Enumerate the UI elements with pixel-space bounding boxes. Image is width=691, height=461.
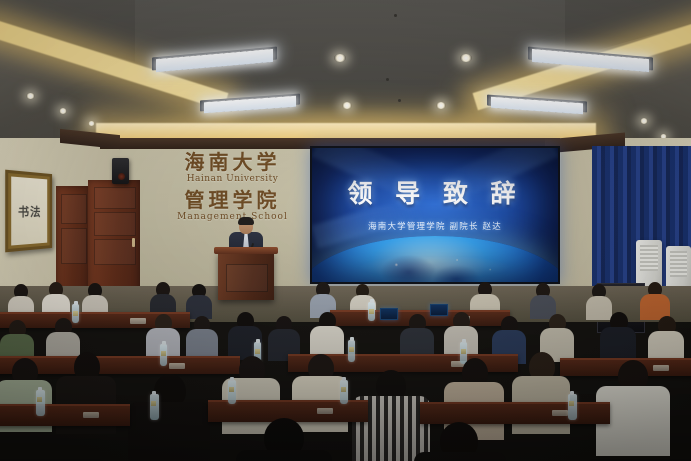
torso: [128, 402, 210, 461]
desk-nameplate: [83, 412, 99, 418]
ceiling-fixture-dot-2: [386, 78, 389, 81]
downlight-6: [59, 108, 67, 114]
downlight-7: [88, 121, 95, 126]
audience-member: [128, 374, 210, 461]
calligraphy-canvas: 书法: [11, 176, 47, 245]
wall-sign-school-cn: 管理学院: [160, 190, 305, 210]
door-panel: [94, 187, 136, 209]
cove-light-front: [96, 123, 596, 139]
wall-sign-university-cn: 海南大学: [160, 152, 305, 172]
lectern-top: [214, 247, 278, 254]
projection-screen[interactable]: 领 导 致 辞 海南大学管理学院 副院长 赵达: [310, 146, 560, 284]
downlight-4: [436, 102, 446, 109]
audience-member: [530, 283, 556, 317]
audience-member: [400, 314, 434, 358]
audience-area: [0, 282, 691, 461]
water-bottle: [160, 344, 167, 366]
downlight-8: [640, 118, 648, 124]
downlight-2: [460, 54, 472, 62]
wall-speaker-left: [112, 158, 129, 184]
audience-desk-row-3c: [420, 402, 610, 424]
water-bottle: [568, 394, 577, 420]
water-bottle: [348, 340, 355, 362]
torso: [600, 327, 636, 361]
water-bottle: [36, 390, 45, 416]
audience-member: [310, 312, 344, 356]
audience-member: [186, 316, 218, 358]
audience-desk-row-3: [0, 404, 130, 426]
laptop[interactable]: [380, 308, 398, 320]
speaker-cone-icon: [118, 173, 125, 180]
audience-member-foreground: [414, 422, 506, 461]
desk-nameplate: [317, 408, 333, 414]
door-handle[interactable]: [132, 238, 135, 247]
water-bottle: [368, 302, 375, 321]
door-panel: [94, 239, 136, 265]
ceiling-fixture-dot-3: [398, 99, 401, 102]
audience-member: [268, 316, 300, 358]
slide-vignette: [312, 148, 558, 282]
audience-member: [640, 282, 670, 318]
desk-nameplate: [169, 363, 185, 369]
wall-sign-university-en: Hainan University: [160, 175, 305, 184]
auditorium-photo: 海南大学 Hainan University 管理学院 Management S…: [0, 0, 691, 461]
ceiling: [0, 0, 691, 152]
downlight-1: [334, 54, 346, 62]
desk-nameplate: [130, 318, 146, 324]
torso: [414, 452, 506, 461]
audience-member: [150, 282, 176, 316]
downlight-5: [26, 93, 35, 99]
door-panel: [61, 194, 87, 224]
ceiling-fixture-dot-1: [394, 14, 397, 17]
audience-member: [600, 312, 636, 358]
audience-member: [648, 316, 684, 362]
desk-nameplate: [552, 410, 568, 416]
downlight-3: [342, 102, 352, 109]
water-bottle: [150, 394, 159, 420]
water-bottle: [340, 380, 348, 404]
water-bottle: [228, 380, 236, 404]
calligraphy-text: 书法: [18, 202, 41, 219]
door-panel: [94, 212, 136, 236]
presenter-hair: [238, 217, 254, 225]
torso: [236, 450, 332, 461]
audience-member-foreground: [236, 418, 332, 461]
framed-calligraphy: 书法: [5, 170, 52, 253]
door-panel: [61, 228, 87, 264]
